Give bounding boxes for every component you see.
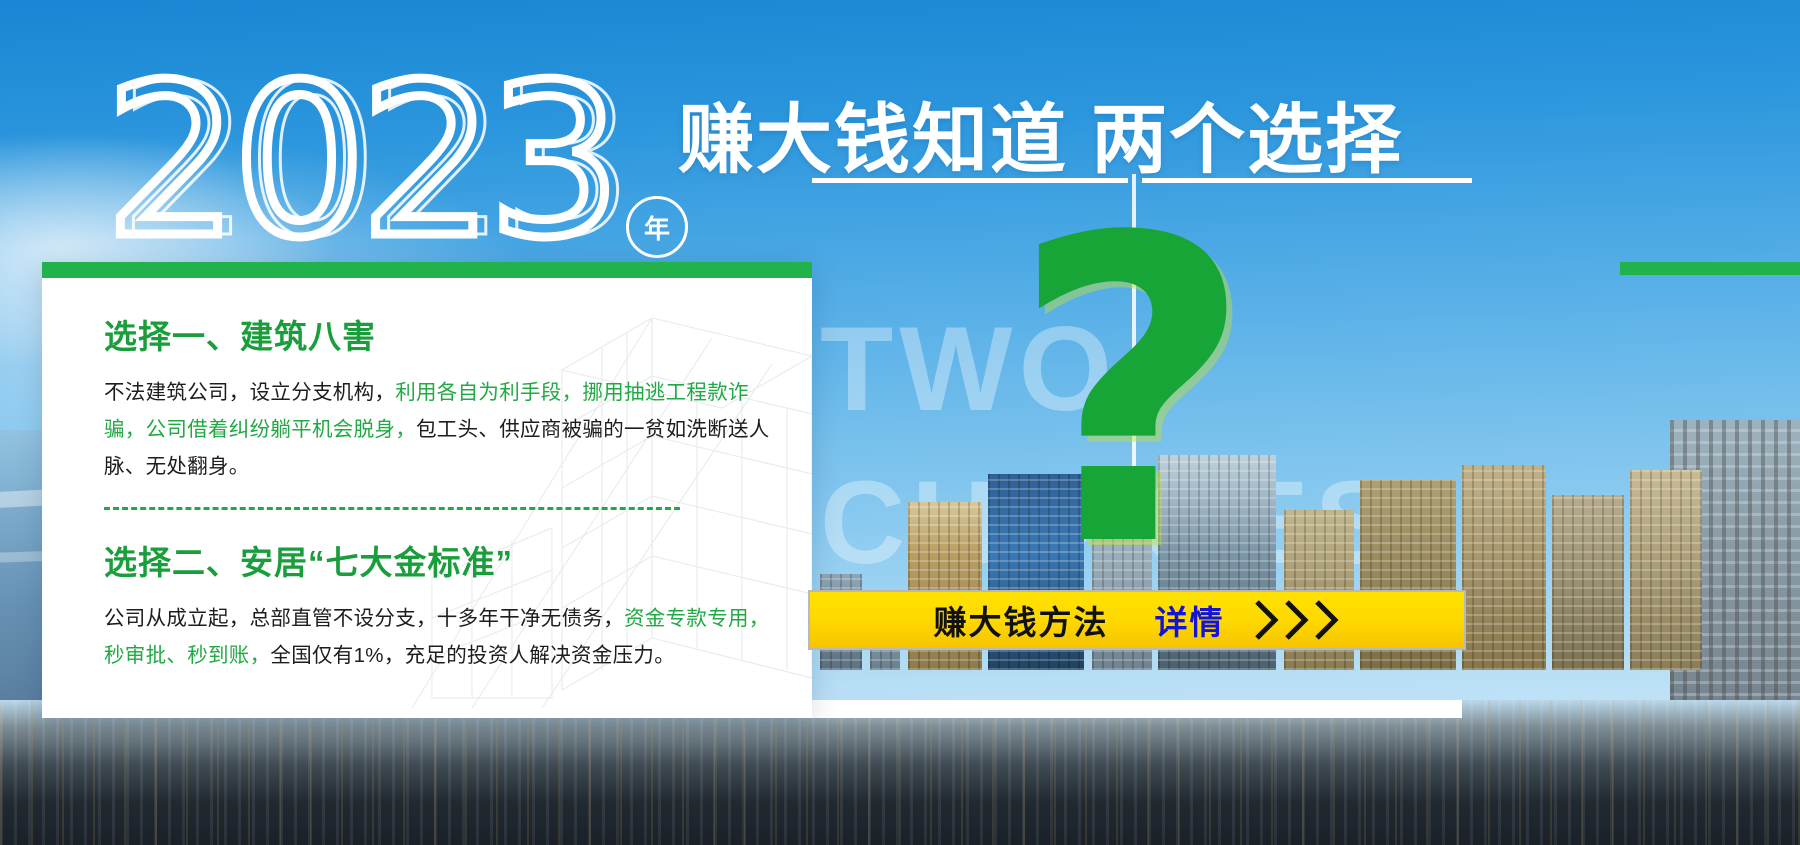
cta-button[interactable]: 赚大钱方法 详情 (808, 590, 1466, 650)
section-heading: 选择二、安居“七大金标准” (104, 536, 786, 584)
cta-detail-link[interactable]: 详情 (1155, 596, 1225, 644)
section-body: 不法建筑公司，设立分支机构，利用各自为利手段，挪用抽逃工程款诈骗，公司借着纠纷躺… (104, 374, 786, 485)
year-suffix-badge: 年 (626, 196, 688, 258)
content-card: 选择一、建筑八害 不法建筑公司，设立分支机构，利用各自为利手段，挪用抽逃工程款诈… (42, 262, 812, 718)
chevron-right-icon (1253, 599, 1341, 641)
section-divider (104, 507, 680, 510)
building (1630, 470, 1702, 670)
banner-canvas: 2023 2023 年 赚大钱知道 两个选择 TWO CHOICES ? (0, 0, 1800, 845)
section-heading: 选择一、建筑八害 (104, 310, 786, 358)
building (1462, 465, 1546, 670)
cta-main-label: 赚大钱方法 (934, 596, 1109, 644)
building (1552, 495, 1624, 670)
section-body: 公司从成立起，总部直管不设分支，十多年干净无债务，资金专款专用，秒审批、秒到账，… (104, 600, 786, 674)
section-choice-two: 选择二、安居“七大金标准” 公司从成立起，总部直管不设分支，十多年干净无债务，资… (104, 536, 786, 674)
card-green-header-bar (42, 262, 812, 278)
body-run-black: 不法建筑公司，设立分支机构， (104, 381, 395, 404)
body-run-black-2: 全国仅有1%，充足的投资人解决资金压力。 (270, 644, 675, 667)
card-content: 选择一、建筑八害 不法建筑公司，设立分支机构，利用各自为利手段，挪用抽逃工程款诈… (104, 310, 786, 674)
city-skyline-band (0, 700, 1800, 845)
accent-stripe-right (1620, 262, 1800, 275)
body-run-black: 公司从成立起，总部直管不设分支，十多年干净无债务， (104, 607, 624, 630)
section-choice-one: 选择一、建筑八害 不法建筑公司，设立分支机构，利用各自为利手段，挪用抽逃工程款诈… (104, 310, 786, 485)
year-outline: 2023 (105, 62, 615, 262)
question-mark-icon: ? (1010, 205, 1254, 585)
